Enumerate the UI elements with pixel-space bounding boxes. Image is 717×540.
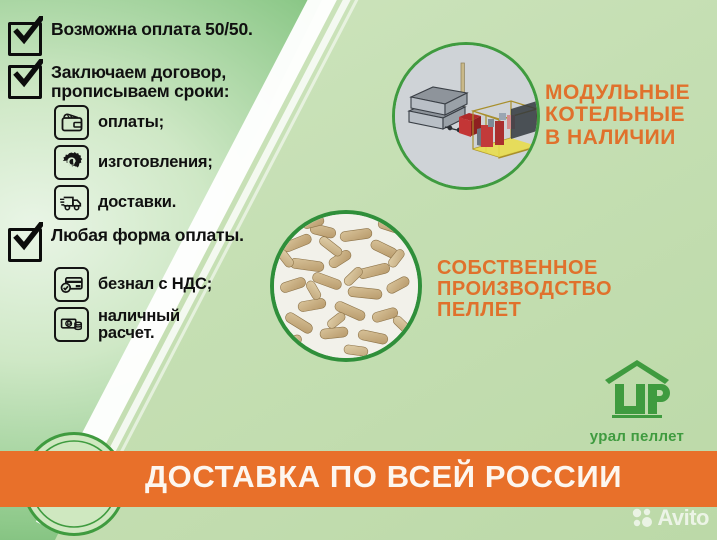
headline-own-pellet-production: СОБСТВЕННОЕ ПРОИЗВОДСТВО ПЕЛЛЕТ [437,258,612,322]
logo-house-up-icon [602,358,672,420]
wallet-icon [54,105,89,140]
checkbox-icon [8,22,42,56]
avito-watermark: Avito [632,505,709,531]
checkmark-icon [13,16,43,46]
checkbox-icon [8,228,42,262]
payment-item-label: наличный расчет. [98,308,180,342]
contract-item-manufacturing: изготовления; [54,145,308,180]
payment-item-label: безнал с НДС; [98,276,212,293]
logo-company-name: урал пеллет [573,428,701,445]
contract-item-label: оплаты; [98,114,164,131]
headline-modular-boilers: МОДУЛЬНЫЕ КОТЕЛЬНЫЕ В НАЛИЧИИ [545,82,690,149]
contract-item-delivery: доставки. [54,185,308,220]
avito-wordmark: Avito [657,505,709,531]
checklist-item-label: Любая форма оплаты. [51,226,244,245]
checkmark-icon [13,59,43,89]
pellet-image [270,210,422,362]
checklist-item: Любая форма оплаты. [8,226,308,262]
avito-dots-icon [632,507,654,529]
checkbox-icon [8,65,42,99]
checklist: Возможна оплата 50/50. Заключаем договор… [8,20,308,347]
contract-item-label: изготовления; [98,154,213,171]
contract-item-payment: оплаты; [54,105,308,140]
checklist-item-label: Возможна оплата 50/50. [51,20,253,39]
boiler-image [392,42,540,190]
gear-wrench-icon [54,145,89,180]
checklist-item-label: Заключаем договор, прописываем сроки: [51,63,229,100]
company-logo: урал пеллет [573,358,701,445]
credit-card-check-icon [54,267,89,302]
checkmark-icon [13,222,43,252]
contract-item-label: доставки. [98,194,176,211]
cash-ruble-icon [54,307,89,342]
payment-item-cash: наличный расчет. [54,307,308,342]
advertisement-banner: Возможна оплата 50/50. Заключаем договор… [0,0,717,540]
checklist-item: Заключаем договор, прописываем сроки: [8,63,308,100]
delivery-banner-text: ДОСТАВКА ПО ВСЕЙ РОССИИ [145,459,717,495]
truck-icon [54,185,89,220]
checklist-item: Возможна оплата 50/50. [8,20,308,56]
